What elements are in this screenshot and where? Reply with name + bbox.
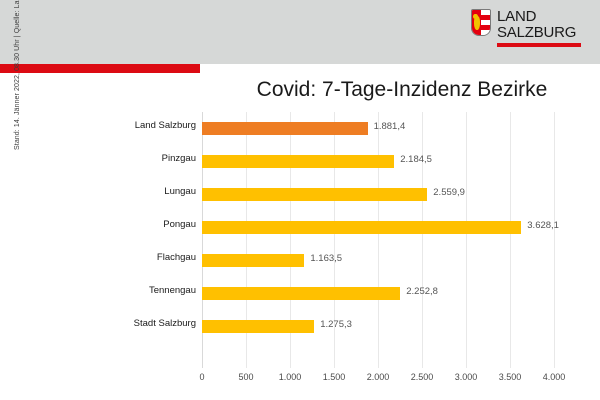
x-axis-tick-labels: 05001.0001.5002.0002.5003.0003.5004.000 (202, 368, 554, 388)
bar-row[interactable]: 1.163,5 (202, 244, 554, 277)
bar-value-label: 3.628,1 (527, 220, 559, 231)
bar-value-label: 2.559,9 (433, 187, 465, 198)
bar-row[interactable]: 3.628,1 (202, 211, 554, 244)
source-note: Stand: 14. Jänner 2022, 08.30 Uhr | Quel… (14, 0, 21, 150)
bar-row[interactable]: 2.559,9 (202, 178, 554, 211)
x-axis-tick: 3.500 (499, 372, 522, 382)
x-axis-tick: 1.500 (323, 372, 346, 382)
bar[interactable] (202, 155, 394, 168)
x-axis-tick: 4.000 (543, 372, 566, 382)
bar-row[interactable]: 1.881,4 (202, 112, 554, 145)
category-row: Flachgau (110, 244, 196, 277)
source-note-container: Stand: 14. Jänner 2022, 08.30 Uhr | Quel… (0, 0, 40, 400)
page-title: Covid: 7-Tage-Inzidenz Bezirke (222, 78, 582, 102)
category-row: Pongau (110, 211, 196, 244)
x-axis-tick: 2.000 (367, 372, 390, 382)
bar-value-label: 1.881,4 (374, 121, 406, 132)
category-label: Land Salzburg (135, 120, 196, 131)
bar-chart-plot-area: 1.881,42.184,52.559,93.628,11.163,52.252… (202, 112, 554, 368)
category-label: Flachgau (157, 252, 196, 263)
x-axis-tick: 3.000 (455, 372, 478, 382)
bar-value-label: 1.163,5 (310, 253, 342, 264)
category-row: Tennengau (110, 277, 196, 310)
land-salzburg-logo: LAND SALZBURG (471, 9, 581, 47)
bar[interactable] (202, 221, 521, 234)
bar-row[interactable]: 2.252,8 (202, 277, 554, 310)
bar[interactable] (202, 122, 368, 135)
bar[interactable] (202, 254, 304, 267)
bar-row[interactable]: 1.275,3 (202, 310, 554, 343)
logo-line-2: SALZBURG (497, 25, 581, 40)
bar-value-label: 1.275,3 (320, 319, 352, 330)
category-label: Stadt Salzburg (134, 318, 196, 329)
category-row: Land Salzburg (110, 112, 196, 145)
x-axis-tick: 2.500 (411, 372, 434, 382)
bar-value-label: 2.252,8 (406, 286, 438, 297)
x-axis-tick: 500 (238, 372, 253, 382)
category-label: Lungau (164, 186, 196, 197)
x-axis-tick: 0 (199, 372, 204, 382)
bar[interactable] (202, 287, 400, 300)
logo-wordmark: LAND SALZBURG (497, 9, 581, 47)
bar[interactable] (202, 320, 314, 333)
bar-row[interactable]: 2.184,5 (202, 145, 554, 178)
logo-underline (497, 43, 581, 47)
x-axis-tick: 1.000 (279, 372, 302, 382)
category-row: Stadt Salzburg (110, 310, 196, 343)
category-row: Pinzgau (110, 145, 196, 178)
category-label: Pinzgau (162, 153, 196, 164)
category-label: Tennengau (149, 285, 196, 296)
bar-value-label: 2.184,5 (400, 154, 432, 165)
category-label: Pongau (163, 219, 196, 230)
category-row: Lungau (110, 178, 196, 211)
gridline (554, 112, 555, 368)
bar[interactable] (202, 188, 427, 201)
category-label-column: Land SalzburgPinzgauLungauPongauFlachgau… (110, 112, 196, 368)
slide-canvas: LAND SALZBURG Covid: 7-Tage-Inzidenz Bez… (0, 0, 600, 400)
logo-line-1: LAND (497, 9, 581, 24)
salzburg-coat-of-arms-icon (471, 9, 491, 36)
